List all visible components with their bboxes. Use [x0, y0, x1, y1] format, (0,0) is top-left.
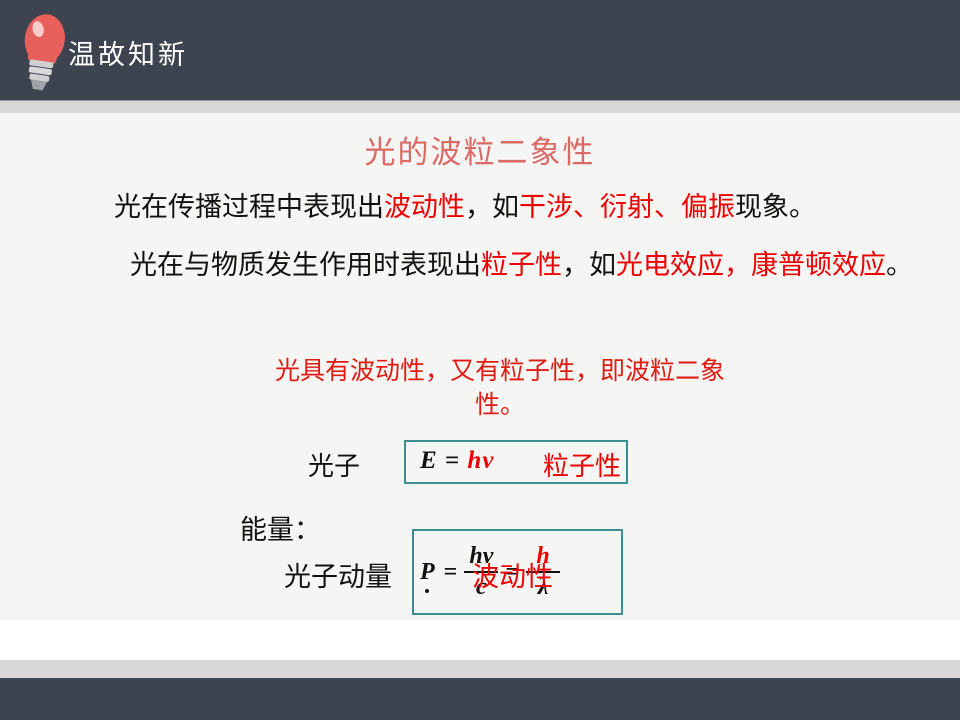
- tag-particle-nature: 粒子性: [543, 446, 621, 483]
- page-title: 光的波粒二象性: [0, 127, 960, 172]
- equation-photon-energy: E = hν: [420, 447, 494, 475]
- p2-text-c: 。: [886, 250, 913, 280]
- footer-dark-band: [0, 678, 960, 720]
- p2-text-b: ，如: [562, 250, 616, 280]
- vector-dot-icon: [425, 589, 429, 593]
- footer-gray-band: [0, 660, 960, 678]
- slide-root: 温故知新 光的波粒二象性 光在传播过程中表现出波动性，如干涉、衍射、偏振现象。 …: [0, 0, 960, 720]
- energy-label: 能量：: [240, 508, 321, 547]
- momentum-label: 光子动量: [284, 555, 392, 594]
- p1-emphasis-wave: 波动性: [384, 192, 465, 222]
- lightbulb-icon: [17, 13, 69, 91]
- p1-text-b: ，如: [465, 192, 519, 222]
- tag-wave-nature: 波动性: [472, 555, 553, 594]
- conclusion-line-1: 光具有波动性，又有粒子性，即波粒二象: [180, 355, 820, 389]
- footer-white-band: [0, 620, 960, 660]
- eq2-operator-1: =: [444, 559, 458, 586]
- p2-emphasis-particle: 粒子性: [481, 250, 562, 280]
- photon-label: 光子: [308, 446, 360, 483]
- p2-emphasis-effects: 光电效应，康普顿效应: [616, 250, 886, 280]
- p2-text-a: 光在与物质发生作用时表现出: [130, 250, 481, 280]
- p1-emphasis-phenomena: 干涉、衍射、偏振: [519, 192, 735, 222]
- eq1-rhs: hν: [467, 447, 494, 474]
- conclusion-statement: 光具有波动性，又有粒子性，即波粒二象 性。: [180, 355, 820, 423]
- header-divider: [0, 100, 960, 114]
- conclusion-line-2: 性。: [180, 389, 820, 423]
- p1-text-a: 光在传播过程中表现出: [114, 192, 384, 222]
- paragraph-wave-nature: 光在传播过程中表现出波动性，如干涉、衍射、偏振现象。: [62, 192, 942, 224]
- eq2-variable: P: [420, 559, 437, 586]
- eq1-lhs: E =: [420, 447, 460, 474]
- paragraph-particle-nature: 光在与物质发生作用时表现出粒子性，如光电效应，康普顿效应。: [62, 250, 942, 282]
- p1-text-c: 现象。: [735, 192, 816, 222]
- eq2-variable-text: P: [420, 559, 435, 585]
- header-title: 温故知新: [68, 33, 188, 72]
